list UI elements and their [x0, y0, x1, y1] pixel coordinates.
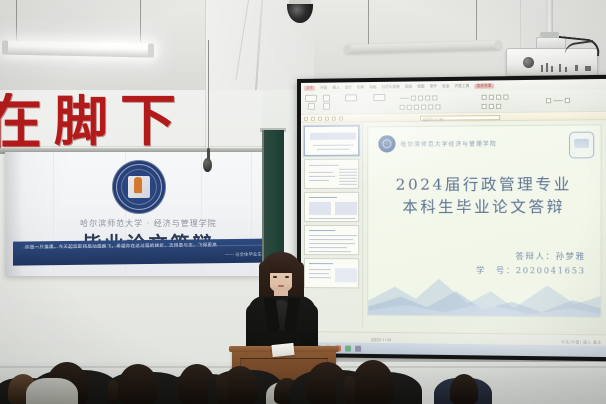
wall-slogan-char: 脚 — [54, 95, 108, 149]
ribbon-group-textbox[interactable] — [345, 94, 357, 106]
lamp-wire — [140, 0, 141, 42]
app-icon[interactable] — [355, 345, 361, 351]
slide-title-line1: 2024届行政管理专业 — [368, 173, 600, 195]
ribbon-group-shape[interactable] — [373, 94, 385, 101]
projection-screen[interactable]: 文件 开始 插入 设计 切换 动画 幻灯片放映 审阅 视图 章节 安全 开发工具… — [297, 75, 606, 362]
align-right-icon[interactable] — [414, 105, 419, 110]
shape-effects-bar[interactable] — [553, 100, 562, 101]
projector-vent — [565, 67, 567, 72]
new-slide-icon[interactable] — [323, 95, 330, 102]
lamp-wire — [368, 0, 369, 44]
wall-slogan-char: 在 — [0, 93, 42, 151]
font-name-box[interactable] — [400, 98, 409, 99]
thumb-line — [309, 218, 355, 219]
microphone-cable — [208, 40, 209, 150]
wall-slogan: 在 脚 下 — [0, 93, 190, 151]
outline-icon[interactable] — [503, 95, 508, 100]
audience-ponytail — [216, 374, 228, 404]
tab-view[interactable]: 视图 — [417, 84, 424, 89]
projector-vent — [575, 65, 578, 71]
os-taskbar[interactable] — [301, 342, 606, 357]
audience-head — [352, 360, 394, 404]
projector-lens — [523, 57, 534, 68]
classroom-photo: 在 脚 下 哈尔滨师范大学 · 经济与管理学院 毕业论文答辩 你是一只雏鹰，今天… — [0, 0, 606, 404]
presenter-mouth — [278, 285, 284, 287]
save-icon[interactable] — [304, 116, 308, 120]
shape-effects-icon[interactable] — [565, 98, 570, 103]
thumb-line — [309, 165, 339, 166]
audience-head — [118, 364, 158, 404]
seal-flame — [134, 177, 142, 193]
underline-icon[interactable] — [432, 95, 437, 100]
ribbon-group-paragraph[interactable] — [400, 104, 441, 109]
slideshow-icon[interactable] — [332, 116, 336, 120]
thumb-line — [309, 239, 353, 240]
lamp-end-cap — [148, 43, 154, 57]
cut-icon[interactable] — [307, 103, 314, 110]
dome-camera-icon — [287, 0, 313, 30]
ceiling-seam — [205, 0, 206, 96]
thumb-line — [317, 149, 349, 150]
tab-transition[interactable]: 切换 — [357, 85, 364, 90]
slide-indicator-field[interactable]: 幻灯片 1 / 24 — [420, 114, 500, 120]
microphone-icon — [203, 158, 212, 172]
thumb-line — [309, 247, 347, 248]
thumb-line — [309, 243, 355, 244]
tab-animation[interactable]: 动画 — [369, 84, 376, 89]
thumb-block — [335, 268, 357, 282]
presenter-eye — [285, 276, 289, 278]
projector-pole — [546, 0, 553, 34]
tab-design[interactable]: 设计 — [345, 85, 352, 90]
slide-thumbnail[interactable] — [304, 225, 359, 255]
font-size-box[interactable] — [411, 96, 416, 101]
tab-home[interactable]: 开始 — [320, 85, 327, 90]
badge-inner — [574, 139, 589, 148]
audience-head — [450, 374, 478, 404]
thumb-line — [309, 176, 335, 177]
lamp-end-cap — [2, 40, 8, 54]
tab-review[interactable]: 审阅 — [405, 84, 412, 89]
projector-vent — [585, 66, 591, 71]
slide-university-logo-icon — [378, 135, 395, 152]
thumb-line — [309, 197, 337, 198]
wall-seam — [205, 90, 206, 150]
fill-icon[interactable] — [496, 95, 501, 100]
banner-quote-strip: 你是一只雏鹰，今天起您即将扇动翅膀飞，希望你在这过程的挫折、志得意与志，飞得更高… — [13, 238, 285, 265]
lamp-end-cap — [345, 45, 351, 53]
thumb-line — [313, 145, 353, 146]
ribbon-group-paste[interactable] — [305, 95, 317, 110]
presenter-eye — [273, 276, 277, 278]
lamp-wire — [16, 0, 17, 44]
select-icon[interactable] — [496, 104, 501, 109]
bullets-icon[interactable] — [421, 105, 426, 110]
slide-thumbnail[interactable] — [304, 159, 359, 189]
thumb-block — [335, 202, 357, 215]
audience-ponytail — [344, 376, 355, 404]
slide-university-name: 哈尔滨师范大学经济与管理学院 — [401, 140, 497, 149]
tab-developer[interactable]: 开发工具 — [455, 83, 470, 88]
find-icon[interactable] — [482, 104, 487, 109]
italic-icon[interactable] — [425, 95, 430, 100]
zoom-icon[interactable] — [339, 116, 343, 120]
thumb-line — [309, 235, 357, 236]
projector-vent — [559, 64, 561, 72]
banner-subtitle: 哈尔滨师范大学 · 经济与管理学院 — [5, 218, 292, 229]
slide-thumbnail[interactable] — [304, 192, 359, 222]
shape-fill-icon[interactable] — [546, 98, 551, 103]
thumb-line — [309, 180, 329, 181]
status-slide-counter: 幻灯片 1 / 24 — [371, 337, 391, 342]
bold-icon[interactable] — [418, 96, 423, 101]
logo-ring — [382, 139, 391, 148]
tab-slideshow[interactable]: 幻灯片放映 — [381, 84, 399, 89]
projector-vent — [546, 63, 548, 72]
replace-icon[interactable] — [489, 104, 494, 109]
status-info: 中文(中国) 插入 备注 — [561, 339, 601, 345]
align-center-icon[interactable] — [407, 105, 412, 110]
align-left-icon[interactable] — [400, 105, 405, 110]
layout-icon[interactable] — [323, 103, 330, 110]
ribbon-group-newslide[interactable] — [323, 95, 330, 110]
projector-vent — [541, 65, 543, 72]
audience-shoulders — [26, 378, 78, 404]
text-direction-icon[interactable] — [345, 94, 357, 101]
university-seal-icon — [112, 160, 166, 214]
slide-canvas[interactable]: 哈尔滨师范大学经济与管理学院 2024届行政管理专业 本科生毕业论文答辩 答辩人… — [367, 124, 601, 318]
undo-icon[interactable] — [318, 116, 322, 120]
app-quick-access-bar[interactable]: 幻灯片 1 / 24 — [301, 112, 606, 123]
audience-ponytail — [108, 380, 118, 404]
tab-member[interactable]: 会员专享 — [475, 83, 494, 88]
thumb-grid — [339, 169, 357, 185]
print-icon[interactable] — [311, 116, 315, 120]
slide-corner-badge-icon — [569, 132, 594, 159]
arrange-icon[interactable] — [482, 95, 487, 100]
paste-icon[interactable] — [305, 95, 317, 102]
slide-title-line2: 本科生毕业论文答辩 — [368, 195, 600, 217]
thumb-block — [309, 202, 331, 215]
numbering-icon[interactable] — [428, 105, 433, 110]
redo-icon[interactable] — [325, 116, 329, 120]
app-ribbon[interactable] — [301, 89, 606, 115]
projector-vent — [551, 66, 553, 72]
thumb-title-block — [310, 133, 356, 140]
tab-file[interactable]: 文件 — [304, 85, 315, 90]
slide-thumbnail[interactable] — [304, 125, 359, 156]
ribbon-group-font[interactable] — [400, 95, 438, 100]
ribbon-group-extra[interactable] — [546, 98, 570, 103]
shape-icon[interactable] — [373, 94, 385, 101]
screen-surface: 文件 开始 插入 设计 切换 动画 幻灯片放映 审阅 视图 章节 安全 开发工具… — [301, 79, 606, 357]
app-icon[interactable] — [345, 345, 351, 351]
quick-styles-icon[interactable] — [489, 95, 494, 100]
presenter-notes-paper — [271, 343, 294, 357]
thumb-line — [309, 230, 335, 231]
ribbon-group-editing[interactable] — [482, 104, 502, 109]
wall-slogan-char: 下 — [120, 94, 176, 150]
lamp-wire — [476, 0, 477, 40]
slide-mountain-decoration — [368, 256, 600, 317]
ribbon-group-label — [351, 102, 352, 106]
ribbon-group-arrange[interactable] — [482, 95, 509, 100]
tab-security[interactable]: 安全 — [442, 84, 449, 89]
tab-section[interactable]: 章节 — [430, 84, 437, 89]
banner-quote: 你是一只雏鹰，今天起您即将扇动翅膀飞，希望你在这过程的挫折、志得意与志，飞得更高 — [25, 241, 275, 250]
line-spacing-icon[interactable] — [435, 104, 440, 109]
tab-insert[interactable]: 插入 — [332, 85, 339, 90]
camera-dome — [287, 4, 313, 23]
thumb-line — [309, 172, 333, 173]
